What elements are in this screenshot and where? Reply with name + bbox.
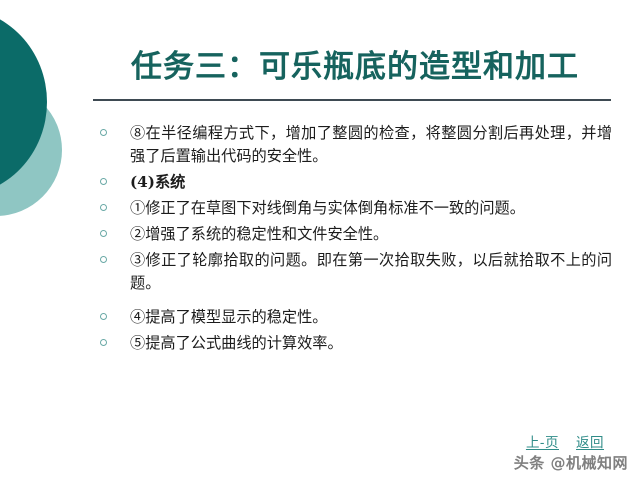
bullet-icon: [100, 313, 107, 320]
page-title: 任务三：可乐瓶底的造型和加工: [93, 44, 611, 90]
bullet-list: ⑧在半径编程方式下，增加了整圆的检查，将整圆分割后再处理，并增强了后置输出代码的…: [96, 122, 612, 358]
list-item-text: (4)系统: [130, 171, 612, 194]
list-item: (4)系统: [96, 171, 612, 194]
list-item: ⑧在半径编程方式下，增加了整圆的检查，将整圆分割后再处理，并增强了后置输出代码的…: [96, 122, 612, 168]
list-item-text: ②增强了系统的稳定性和文件安全性。: [130, 223, 612, 246]
bullet-icon: [100, 256, 107, 263]
list-item: ③修正了轮廓拾取的问题。即在第一次拾取失败，以后就拾取不上的问题。: [96, 249, 612, 295]
list-item-text: ①修正了在草图下对线倒角与实体倒角标准不一致的问题。: [130, 197, 612, 220]
list-item-text: ④提高了模型显示的稳定性。: [130, 306, 612, 329]
list-item: ⑤提高了公式曲线的计算效率。: [96, 332, 612, 355]
watermark: 头条 @机械知网: [514, 452, 628, 473]
back-link[interactable]: 返回: [576, 431, 604, 451]
bullet-icon: [100, 204, 107, 211]
list-item-text: ⑧在半径编程方式下，增加了整圆的检查，将整圆分割后再处理，并增强了后置输出代码的…: [130, 122, 612, 168]
list-item: ①修正了在草图下对线倒角与实体倒角标准不一致的问题。: [96, 197, 612, 220]
list-item-text: ⑤提高了公式曲线的计算效率。: [130, 332, 612, 355]
list-item-text: ③修正了轮廓拾取的问题。即在第一次拾取失败，以后就拾取不上的问题。: [130, 249, 612, 295]
bullet-icon: [100, 178, 107, 185]
list-item: ④提高了模型显示的稳定性。: [96, 306, 612, 329]
title-block: 任务三：可乐瓶底的造型和加工: [93, 44, 611, 101]
list-item: ②增强了系统的稳定性和文件安全性。: [96, 223, 612, 246]
prev-page-link[interactable]: 上-页: [526, 431, 559, 451]
bullet-icon: [100, 230, 107, 237]
bullet-icon: [100, 339, 107, 346]
bullet-icon: [100, 129, 107, 136]
presentation-slide: 任务三：可乐瓶底的造型和加工 ⑧在半径编程方式下，增加了整圆的检查，将整圆分割后…: [0, 0, 640, 480]
navigation-links: 上-页 返回: [526, 431, 604, 451]
title-divider: [93, 99, 611, 101]
